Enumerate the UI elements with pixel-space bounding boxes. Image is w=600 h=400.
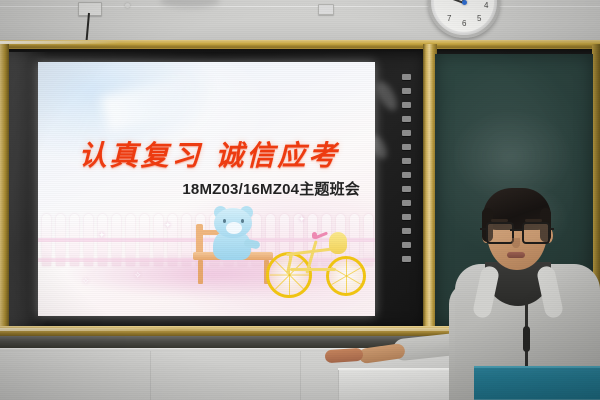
hoodie-zipper-pull [523,326,530,352]
whiteboard-key[interactable] [402,144,411,150]
clock-numeral-5: 5 [477,15,481,23]
bicycle-grip [312,232,317,239]
teal-podium [474,368,600,400]
whiteboard-key[interactable] [402,186,411,192]
glasses-lens-left [486,222,514,244]
clock-numeral-7: 7 [447,15,451,23]
whiteboard-key[interactable] [402,228,411,234]
bench-leg [198,260,203,284]
gold-frame-left [0,44,9,336]
ground-shadow [68,258,358,298]
bicycle-down-tube [290,268,336,271]
presenter-hand [325,348,364,364]
glasses-bridge [510,229,522,231]
sparkle-icon: ✦ [164,220,172,231]
whiteboard-key[interactable] [402,130,411,136]
wall-panel-seam [150,351,151,400]
whiteboard-key[interactable] [402,172,411,178]
wall-outlet-icon [78,2,102,16]
glasses-lens-right [522,222,550,244]
glasses-temple-right [548,228,554,230]
ceiling-dot [125,3,130,8]
whiteboard-glare-1 [373,79,400,114]
bench-backrest [196,224,203,254]
whiteboard-key[interactable] [402,88,411,94]
whiteboard-key[interactable] [402,116,411,122]
whiteboard-key[interactable] [402,242,411,248]
clock-center-pin [462,0,467,5]
classroom-scene: 4 5 6 7 [0,0,600,400]
clock-numeral-6: 6 [462,20,466,28]
whiteboard-key[interactable] [402,214,411,220]
clock-face: 4 5 6 7 [434,0,494,32]
slide-title: 认真复习 诚信应考 [54,134,364,174]
projected-slide: 认真复习 诚信应考 18MZ03/16MZ04主题班会 [38,62,375,316]
gold-highlight [0,41,120,44]
fence-rail-upper [38,238,375,242]
wall-panel-seam [300,351,301,400]
whiteboard-key[interactable] [402,158,411,164]
presenter-mouth [507,252,525,258]
sparkle-icon: ✦ [98,230,106,241]
presenter-nose [512,238,520,248]
sparkle-icon: ✧ [134,270,142,281]
whiteboard-key[interactable] [402,256,411,262]
bicycle-seat [329,232,347,254]
sparkle-icon: ✦ [298,214,306,225]
whiteboard-side-keys[interactable] [402,74,414,262]
wall-sensor-icon [318,4,334,15]
glasses-temple-left [480,228,486,230]
bear-eye-left [223,219,226,223]
clock-numeral-4: 4 [484,2,488,10]
whiteboard-key[interactable] [402,102,411,108]
whiteboard-key[interactable] [402,74,411,80]
bear-eye-right [241,219,244,223]
whiteboard-key[interactable] [402,200,411,206]
slide-subtitle: 18MZ03/16MZ04主题班会 [38,178,360,199]
sparkle-icon: ✧ [82,276,90,287]
bicycle-front-wheel [326,256,366,296]
bear-muzzle [226,222,242,234]
